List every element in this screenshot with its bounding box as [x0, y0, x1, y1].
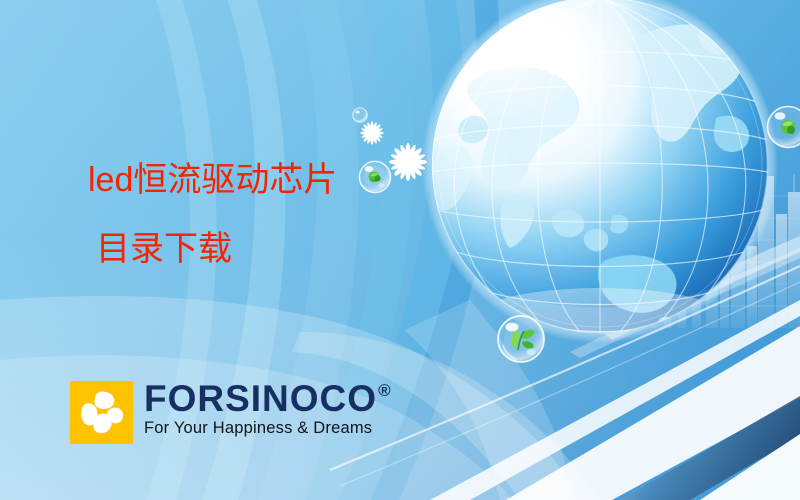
company-logo: FORSINOCO ® For Your Happiness & Dreams	[70, 381, 391, 444]
four-petal-pinwheel-icon	[70, 381, 133, 444]
headline-line-2: 目录下载	[96, 232, 232, 266]
registered-trademark-icon: ®	[378, 382, 391, 399]
white-starburst-small	[360, 121, 384, 145]
brand-tagline: For Your Happiness & Dreams	[144, 419, 372, 438]
brand-name: FORSINOCO	[144, 381, 377, 416]
bubble-with-green-globe	[359, 161, 391, 193]
bubble-with-green-leaf	[498, 316, 545, 363]
headline-line-1: led恒流驱动芯片	[88, 163, 337, 197]
white-starburst-large	[389, 143, 427, 181]
bubble-small-faint	[353, 108, 368, 123]
promo-banner: led恒流驱动芯片 目录下载 FORSINOCO	[0, 0, 800, 500]
